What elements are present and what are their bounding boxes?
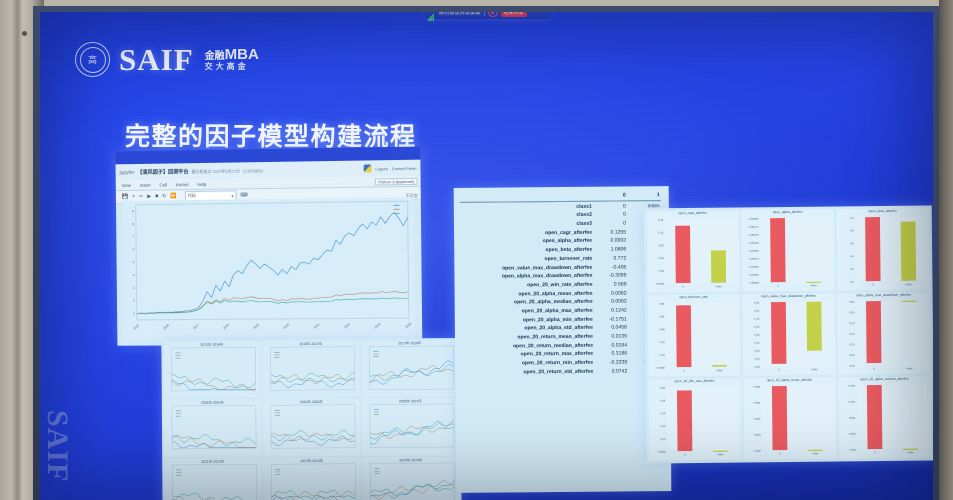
svg-text:0.14: 0.14 (658, 218, 664, 222)
metric-bar-chart: open_turnover_rate0.800.640.480.320.160.… (648, 295, 741, 377)
logout-link[interactable]: Logout (375, 166, 387, 171)
notebook-header-left: jupyter 【清风因子】回测平台 最后检查点 2024年5月27日 (已自动… (120, 167, 264, 176)
small-multiple-chart: 2018年-2019年 (164, 400, 261, 457)
bar-chart-svg: 0.00-0.05-0.10-0.15-0.20-0.25-0.300index (838, 298, 931, 375)
svg-text:index: index (716, 368, 723, 372)
menu-item-kernel[interactable]: Kernel (176, 182, 189, 187)
metric-value-0: 0.772 (593, 254, 627, 263)
metrics-table: 0 1 class10indexclass20indexclass30index… (460, 191, 663, 377)
small-multiple-chart: 2016年-2017年 (262, 341, 359, 398)
svg-text:0: 0 (684, 453, 686, 457)
small-multiple-svg (361, 344, 457, 397)
metric-value-0: 0.1242 (594, 306, 628, 315)
small-multiple-chart: 2023年-2024年 (362, 457, 459, 500)
svg-text:index: index (812, 451, 819, 455)
svg-text:-0.35: -0.35 (754, 357, 761, 361)
logo-mba: MBA (225, 46, 259, 63)
bar-chart-svg: 0.0060.0050.0040.0030.0020index (744, 383, 837, 460)
svg-text:0.00125: 0.00125 (749, 241, 759, 245)
chevron-down-icon: ▾ (231, 193, 233, 198)
small-multiple-svg (362, 461, 458, 500)
metric-bar-chart: open_20_alpha_median_afterfee0.0060.0050… (838, 377, 931, 459)
svg-text:0: 0 (683, 369, 685, 373)
saif-seal-icon: 高 (75, 42, 110, 77)
cut-icon[interactable]: ✂ (139, 194, 143, 200)
svg-text:-0.05: -0.05 (753, 309, 760, 313)
logo-mba-line: 金融MBA (205, 47, 259, 63)
metric-bar-chart: open_beta_afterfee1.00.80.60.40.20.00ind… (837, 209, 930, 291)
svg-text:0.003: 0.003 (754, 433, 761, 437)
share-status-label: 腾讯会议共享屏幕 (439, 12, 481, 16)
svg-text:0.03: 0.03 (659, 269, 665, 273)
svg-text:0.00025: 0.00025 (749, 273, 759, 277)
jupyter-logo-icon[interactable]: jupyter (120, 170, 135, 176)
svg-text:-0.25: -0.25 (754, 341, 761, 345)
small-multiple-chart: 2015年-2016年 (163, 341, 260, 398)
equity-curve-chart: 123456789 201520162017201820192020202120… (122, 197, 415, 340)
menu-item-insert[interactable]: Insert (140, 182, 151, 187)
metric-bar-chart: open_alpha_afterfee0.002000.001750.00150… (742, 210, 835, 292)
metrics-table-panel: 0 1 class10indexclass20indexclass30index… (454, 186, 672, 493)
svg-text:0.0: 0.0 (850, 280, 854, 284)
svg-text:-0.10: -0.10 (753, 317, 760, 321)
room-wall-right (939, 0, 953, 500)
svg-text:index: index (811, 283, 818, 287)
small-multiple-svg (164, 462, 260, 500)
svg-text:0.005: 0.005 (754, 401, 761, 405)
svg-text:0.00050: 0.00050 (749, 265, 759, 269)
svg-text:index: index (716, 284, 723, 288)
metric-value-0: 0.0062 (594, 289, 628, 298)
svg-text:0: 0 (872, 283, 874, 287)
svg-text:index: index (906, 366, 913, 370)
metric-value-0: 0.0458 (594, 323, 628, 332)
notebook-checkpoint: 最后检查点 2024年5月27日 (191, 168, 239, 175)
svg-text:0.00175: 0.00175 (749, 225, 759, 229)
svg-text:0.006: 0.006 (849, 384, 856, 388)
small-multiple-svg (263, 461, 359, 500)
svg-text:-0.20: -0.20 (849, 342, 856, 346)
svg-text:0.002: 0.002 (849, 448, 856, 452)
svg-text:0.00200: 0.00200 (749, 217, 759, 221)
svg-text:0.06: 0.06 (659, 256, 665, 260)
restart-icon[interactable]: ↻ (162, 193, 166, 199)
save-icon[interactable]: 💾 (122, 194, 128, 200)
metric-value-0: 0 (593, 201, 627, 210)
small-multiple-chart: 2020年-2021年 (362, 398, 459, 455)
svg-text:0: 0 (779, 452, 781, 456)
col-0: 0 (593, 191, 627, 201)
svg-text:0.6: 0.6 (850, 241, 854, 245)
notebook-autosave-status: (已自动保存) (243, 169, 263, 174)
svg-text:0.2: 0.2 (850, 267, 854, 271)
small-multiple-svg (262, 345, 358, 398)
svg-text:0.003: 0.003 (849, 432, 856, 436)
svg-text:0.00150: 0.00150 (749, 233, 759, 237)
saif-watermark: SAIF (40, 410, 74, 500)
svg-text:0.48: 0.48 (660, 398, 666, 402)
fast-forward-icon[interactable]: ⏩ (170, 193, 176, 199)
bar-chart-svg: 1.00.80.60.40.20.00index (837, 214, 930, 291)
control-panel-link[interactable]: Control Panel (392, 165, 417, 170)
svg-text:-0.05: -0.05 (848, 310, 855, 314)
menu-item-help[interactable]: Help (197, 181, 206, 186)
svg-text:index: index (717, 452, 724, 456)
col-1: 1 (627, 191, 661, 201)
svg-text:0: 0 (778, 368, 780, 372)
bar-chart-svg: 0.002000.001750.001500.001250.001000.000… (742, 215, 835, 292)
svg-text:0.0000: 0.0000 (658, 450, 667, 454)
seal-char: 高 (88, 53, 97, 66)
kernel-indicator[interactable]: Python 3 (ipykernel) (375, 178, 417, 186)
metric-bar-chart: open_20_alpha_mean_afterfee0.0060.0050.0… (743, 378, 836, 460)
metric-bar-chart: open_cagr_afterfee0.140.110.080.060.030.… (647, 211, 740, 293)
small-multiples-grid: 2015年-2016年2016年-2017年2017年-2018年2018年-2… (161, 338, 461, 500)
svg-text:0.004: 0.004 (849, 416, 856, 420)
svg-text:index: index (811, 367, 818, 371)
svg-text:0.32: 0.32 (659, 340, 665, 344)
svg-text:-0.15: -0.15 (849, 332, 856, 336)
run-icon[interactable]: ▶ (147, 194, 151, 200)
svg-text:-0.40: -0.40 (754, 365, 761, 369)
svg-text:-0.20: -0.20 (754, 333, 761, 337)
metric-value-0: 0.1255 (593, 228, 627, 237)
osd-divider (484, 12, 485, 16)
bar-chart-svg: 0.600.480.360.240.120.00000index (649, 384, 742, 461)
saif-chinese-lockup: 金融MBA 交大高金 (205, 47, 259, 71)
metric-value-0: -0.3099 (593, 271, 627, 280)
svg-text:0.4: 0.4 (850, 254, 854, 258)
small-multiple-svg (164, 404, 260, 457)
svg-text:0.08: 0.08 (658, 243, 664, 247)
screen-share-osd-bar[interactable]: 腾讯会议共享屏幕 结束共享 (425, 12, 551, 19)
svg-text:-0.15: -0.15 (753, 325, 760, 329)
metrics-table-body: class10indexclass20indexclass30indexopen… (460, 201, 663, 377)
wall-screw-dot (22, 31, 27, 36)
svg-text:0.64: 0.64 (659, 314, 665, 318)
small-multiple-svg (163, 345, 259, 398)
svg-text:0.24: 0.24 (660, 424, 666, 428)
equity-curve-svg: 123456789 201520162017201820192020202120… (122, 197, 415, 340)
bar-chart-svg: 0.0060.0050.0040.0030.0020index (839, 382, 932, 459)
metric-value-0: 0.0184 (594, 341, 628, 350)
python-kernel-icon (363, 164, 371, 172)
svg-text:-0.30: -0.30 (754, 349, 761, 353)
svg-text:0.005: 0.005 (849, 400, 856, 404)
logo-jiaoda-gaojin: 交大高金 (205, 63, 259, 71)
svg-text:-0.30: -0.30 (849, 364, 856, 368)
svg-text:-0.25: -0.25 (849, 353, 856, 357)
svg-text:0.0000: 0.0000 (657, 366, 666, 370)
svg-text:0.00: 0.00 (754, 301, 760, 305)
metric-value-0: 0 (593, 219, 627, 228)
metric-value-0: 0.569 (593, 280, 627, 289)
signal-bars-icon (428, 12, 436, 16)
svg-text:0: 0 (874, 451, 876, 455)
small-multiple-chart: 2017年-2018年 (361, 340, 458, 397)
bar-chart-svg: 0.800.640.480.320.160.00000index (648, 300, 741, 377)
stop-icon[interactable]: ■ (155, 193, 158, 199)
metric-value-0: 0.0002 (593, 237, 627, 246)
svg-text:0.00100: 0.00100 (749, 249, 759, 253)
add-cell-icon[interactable]: + (132, 194, 135, 200)
metric-value-0: 1.0806 (593, 245, 627, 254)
svg-text:0.00000: 0.00000 (750, 281, 760, 285)
svg-text:index: index (907, 450, 914, 454)
record-icon[interactable] (488, 12, 498, 17)
svg-text:0.11: 0.11 (659, 231, 664, 235)
saif-wordmark: SAIF (119, 44, 194, 75)
svg-text:0.12: 0.12 (661, 437, 667, 441)
small-multiple-svg (263, 403, 359, 456)
metric-bar-chart: open_20_win_rate_afterfee0.600.480.360.2… (648, 379, 741, 461)
metric-value-0: -0.2238 (594, 358, 628, 367)
command-palette-icon[interactable]: ⌨ (240, 192, 248, 198)
svg-text:0.00075: 0.00075 (749, 257, 759, 261)
metric-value-0: 0 (593, 210, 627, 219)
menu-item-cell[interactable]: Cell (159, 182, 167, 187)
svg-text:index: index (906, 282, 913, 286)
photo-of-projection-screen: 腾讯会议共享屏幕 结束共享 高 SAIF 金融MBA 交大高金 完整的因子模型构… (0, 0, 953, 500)
svg-text:0: 0 (777, 284, 779, 288)
small-multiple-chart: 2019年-2020年 (263, 399, 360, 456)
svg-text:0.0000: 0.0000 (656, 282, 665, 286)
metric-value-0: 0.0062 (594, 297, 628, 306)
metric-value-0: 0.0742 (594, 367, 628, 376)
saif-logo: 高 SAIF 金融MBA 交大高金 (75, 42, 259, 77)
bar-chart-svg: 0.140.110.080.060.030.00000index (647, 216, 740, 293)
svg-text:0.48: 0.48 (659, 327, 665, 331)
notebook-header-right: Logout Control Panel (363, 164, 416, 173)
metric-value-0: -0.405 (593, 263, 627, 272)
bar-chart-svg: 0.00-0.05-0.10-0.15-0.20-0.25-0.30-0.35-… (743, 299, 836, 376)
svg-text:0.60: 0.60 (660, 386, 666, 390)
metric-bar-chart: open_alpha_max_drawdown_afterfee0.00-0.0… (838, 293, 931, 375)
metric-bar-chart: open_value_max_drawdown_afterfee0.00-0.0… (743, 294, 836, 376)
metric-value-0: 0.3188 (594, 349, 628, 358)
svg-text:0.16: 0.16 (660, 353, 666, 357)
svg-text:0: 0 (873, 367, 875, 371)
metric-value-0: -0.1751 (594, 315, 628, 324)
small-multiple-svg (362, 402, 458, 455)
svg-text:0.80: 0.80 (659, 302, 665, 306)
jupyter-notebook-window[interactable]: jupyter 【清风因子】回测平台 最后检查点 2024年5月27日 (已自动… (115, 147, 422, 346)
notebook-filename[interactable]: 【清风因子】回测平台 (137, 168, 188, 176)
svg-text:1.0: 1.0 (850, 216, 854, 220)
small-multiple-chart: 2022年-2023年 (263, 457, 360, 500)
svg-text:0.004: 0.004 (754, 417, 761, 421)
small-multiple-chart: 2021年-2022年 (164, 458, 261, 500)
menu-item-view[interactable]: View (122, 182, 131, 187)
svg-text:0.36: 0.36 (660, 411, 666, 415)
svg-text:-0.10: -0.10 (848, 321, 855, 325)
metric-value-0: 0.0139 (594, 332, 628, 341)
cell-type-value: 代码 (188, 193, 196, 199)
stop-share-button[interactable]: 结束共享 (501, 12, 527, 17)
metric-bar-chart-grid: open_cagr_afterfee0.140.110.080.060.030.… (644, 205, 933, 463)
projected-slide: 腾讯会议共享屏幕 结束共享 高 SAIF 金融MBA 交大高金 完整的因子模型构… (40, 12, 933, 500)
svg-text:0.00: 0.00 (849, 300, 855, 304)
metric-name: open_20_return_std_afterfee (461, 367, 594, 377)
svg-text:0.006: 0.006 (754, 385, 761, 389)
svg-text:0.8: 0.8 (850, 229, 854, 233)
svg-text:0: 0 (682, 285, 684, 289)
svg-text:0.002: 0.002 (754, 449, 761, 453)
table-row: open_20_return_std_afterfee0.07420.053 (461, 367, 662, 377)
logo-jinrong: 金融 (205, 51, 225, 62)
